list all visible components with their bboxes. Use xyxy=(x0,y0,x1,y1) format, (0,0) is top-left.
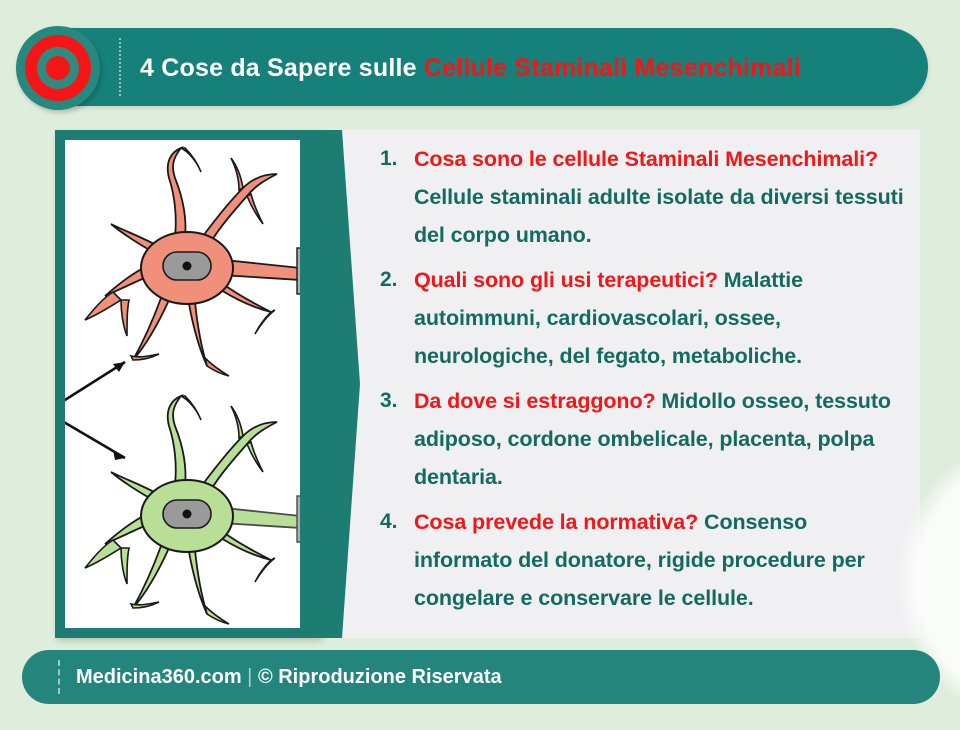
footer-separator: | xyxy=(242,666,258,688)
list-item-text: Cosa prevede la normativa? Consenso info… xyxy=(414,503,910,617)
list-item-answer: Cellule staminali adulte isolate da dive… xyxy=(414,185,904,247)
footer-credit: Medicina360.com | © Riproduzione Riserva… xyxy=(76,650,502,704)
page-title-plain: 4 Cose da Sapere sulle xyxy=(140,54,424,82)
list-item-number: 3. xyxy=(380,382,414,420)
logo-ring-inner-teal xyxy=(37,47,79,89)
list-item: 4. Cosa prevede la normativa? Consenso i… xyxy=(380,503,910,617)
footer-site-name: Medicina360.com xyxy=(76,666,242,688)
list-item: 3. Da dove si estraggono? Midollo osseo,… xyxy=(380,382,910,496)
page-title: 4 Cose da Sapere sulle Cellule Staminali… xyxy=(140,48,910,88)
list-item-question: Cosa sono le cellule Staminali Mesenchim… xyxy=(414,147,878,171)
target-concentric-circles-icon xyxy=(16,26,100,110)
illustration-frame xyxy=(55,130,320,638)
logo-ring-outer-red xyxy=(25,35,91,101)
list-item: 1. Cosa sono le cellule Staminali Mesenc… xyxy=(380,140,910,254)
neuron-diagram xyxy=(65,140,310,628)
header-dotted-divider xyxy=(119,38,121,96)
list-item-number: 1. xyxy=(380,140,414,178)
list-item-text: Quali sono gli usi terapeutici? Malattie… xyxy=(414,261,910,375)
logo-center-red-dot xyxy=(46,56,70,80)
list-item-question: Da dove si estraggono? xyxy=(414,389,656,413)
facts-list: 1. Cosa sono le cellule Staminali Mesenc… xyxy=(380,140,910,624)
neuron-orange xyxy=(85,148,302,376)
list-item-number: 2. xyxy=(380,261,414,299)
pointer-arrows xyxy=(65,362,125,460)
list-item-number: 4. xyxy=(380,503,414,541)
list-item-question: Quali sono gli usi terapeutici? xyxy=(414,268,718,292)
page-title-highlight: Cellule Staminali Mesenchimali xyxy=(424,54,801,82)
neuron-green xyxy=(85,396,302,624)
footer-copyright: © Riproduzione Riservata xyxy=(258,666,502,688)
footer-dashed-divider xyxy=(58,660,60,694)
list-item-text: Da dove si estraggono? Midollo osseo, te… xyxy=(414,382,910,496)
list-item-text: Cosa sono le cellule Staminali Mesenchim… xyxy=(414,140,910,254)
infographic-canvas: 4 Cose da Sapere sulle Cellule Staminali… xyxy=(0,0,960,720)
list-item-question: Cosa prevede la normativa? xyxy=(414,510,698,534)
list-item: 2. Quali sono gli usi terapeutici? Malat… xyxy=(380,261,910,375)
